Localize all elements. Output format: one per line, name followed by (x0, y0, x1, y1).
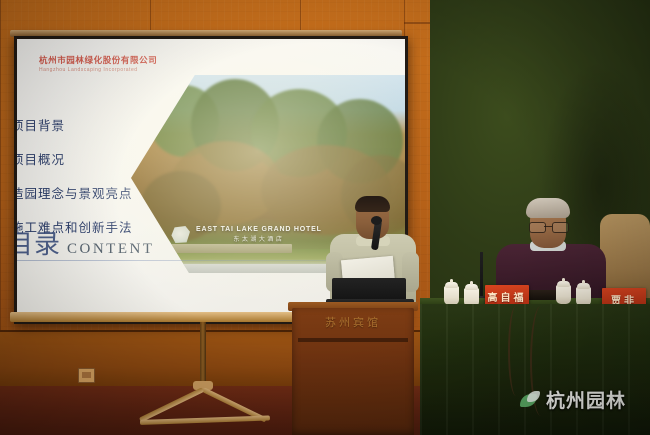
company-name-cn: 杭州市园林绿化股份有限公司 (39, 54, 157, 66)
tripod-post (200, 322, 206, 386)
leaf-icon (520, 391, 542, 409)
eyeglasses-icon (529, 222, 567, 231)
gooseneck-microphone (480, 252, 483, 302)
teacup (556, 285, 571, 304)
wall-seam (404, 22, 430, 24)
hotel-sign: EAST TAI LAKE GRAND HOTEL 东太湖大酒店 (171, 226, 322, 243)
slide-company-header: 杭州市园林绿化股份有限公司 Hangzhou Landscaping Incor… (39, 54, 157, 73)
watermark-logo: 杭州园林 (520, 386, 626, 413)
bullet-item: 造园理念与景观亮点 (17, 183, 133, 202)
slide-content-title: 目录 CONTENT (17, 224, 155, 261)
teacup (444, 286, 459, 305)
screenshot-scene: 杭州市园林绿化股份有限公司 Hangzhou Landscaping Incor… (0, 0, 650, 435)
cable (508, 306, 524, 396)
panelist-hair (526, 198, 570, 218)
podium-shelf (298, 338, 408, 342)
content-title-cn: 目录 (17, 224, 61, 261)
watermark-text: 杭州园林 (546, 386, 626, 413)
speaker-hair (355, 196, 390, 212)
podium: 苏州宾馆 (292, 308, 414, 435)
nameplate-text: 高自福 (488, 289, 527, 304)
hotel-sign-en: EAST TAI LAKE GRAND HOTEL (196, 226, 322, 233)
sign-plinth (167, 244, 292, 253)
bullet-item: 项目概况 (17, 149, 133, 168)
bullet-item: 项目背景 (17, 115, 133, 134)
podium-plaque-text: 苏州宾馆 (306, 314, 400, 330)
content-title-en: CONTENT (67, 241, 155, 261)
hotel-emblem-icon (171, 226, 191, 243)
hotel-sign-cn: 东太湖大酒店 (196, 234, 322, 243)
company-name-en: Hangzhou Landscaping Incorporated (39, 67, 157, 73)
microphone-head (371, 216, 382, 225)
wall-outlet (78, 368, 95, 383)
wall-seam (0, 0, 1, 330)
